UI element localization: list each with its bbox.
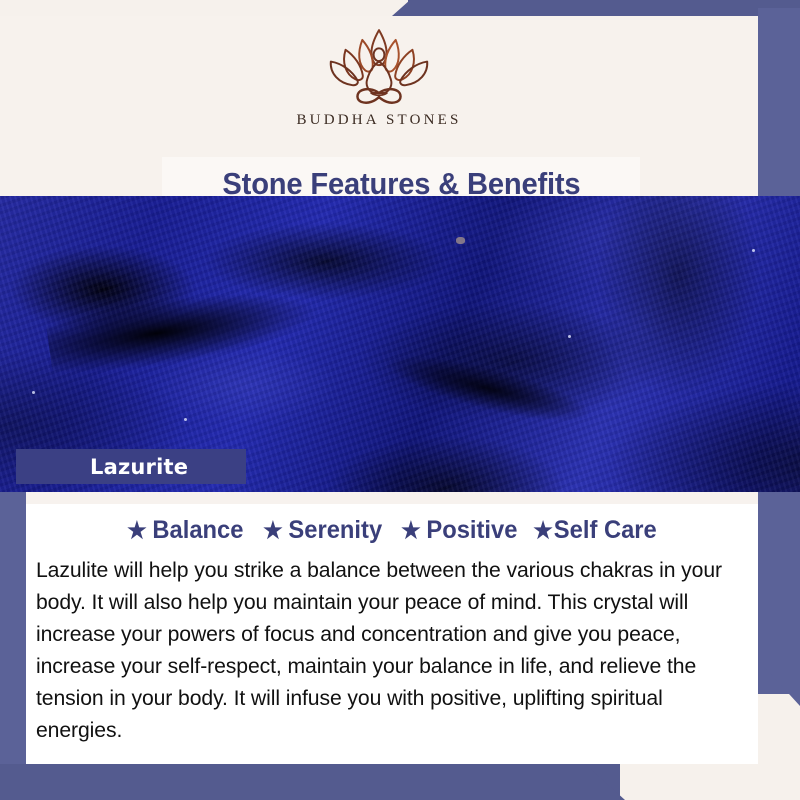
decor-bottom-bar: [0, 764, 620, 800]
star-icon: ★: [533, 519, 553, 542]
stone-photo-speck: [184, 418, 187, 421]
brand-name: BUDDHA STONES: [296, 112, 461, 129]
keyword-serenity: ★ Serenity: [263, 516, 382, 545]
keyword-list: ★ Balance ★ Serenity ★ Positive ★ Self C…: [26, 516, 758, 545]
decor-top-right-bar: [408, 0, 800, 16]
keyword-label: Serenity: [288, 516, 382, 545]
stone-name-label: Lazurite: [90, 455, 188, 479]
lotus-meditation-icon: [320, 24, 438, 108]
keyword-label: Self Care: [553, 516, 656, 545]
stone-description: Lazulite will help you strike a balance …: [36, 554, 737, 746]
panel-top-tint: [26, 492, 758, 504]
header: BUDDHA STONES Stone Features & Benefits: [0, 16, 758, 196]
keyword-label: Positive: [426, 516, 517, 545]
keyword-positive: ★ Positive: [401, 516, 517, 545]
star-icon: ★: [263, 519, 283, 542]
poster-canvas: BUDDHA STONES Stone Features & Benefits …: [0, 0, 800, 800]
content-panel: ★ Balance ★ Serenity ★ Positive ★ Self C…: [26, 492, 758, 764]
keyword-balance: ★ Balance: [127, 516, 243, 545]
star-icon: ★: [127, 519, 147, 542]
stone-photo: [0, 196, 800, 492]
keyword-self-care: ★ Self Care: [533, 516, 657, 545]
keyword-label: Balance: [153, 516, 244, 545]
star-icon: ★: [401, 519, 421, 542]
stone-photo-inclusion: [456, 237, 465, 244]
stone-name-band: Lazurite: [16, 449, 246, 484]
decor-left-bar: [0, 484, 26, 778]
brand-logo: BUDDHA STONES: [0, 24, 758, 129]
